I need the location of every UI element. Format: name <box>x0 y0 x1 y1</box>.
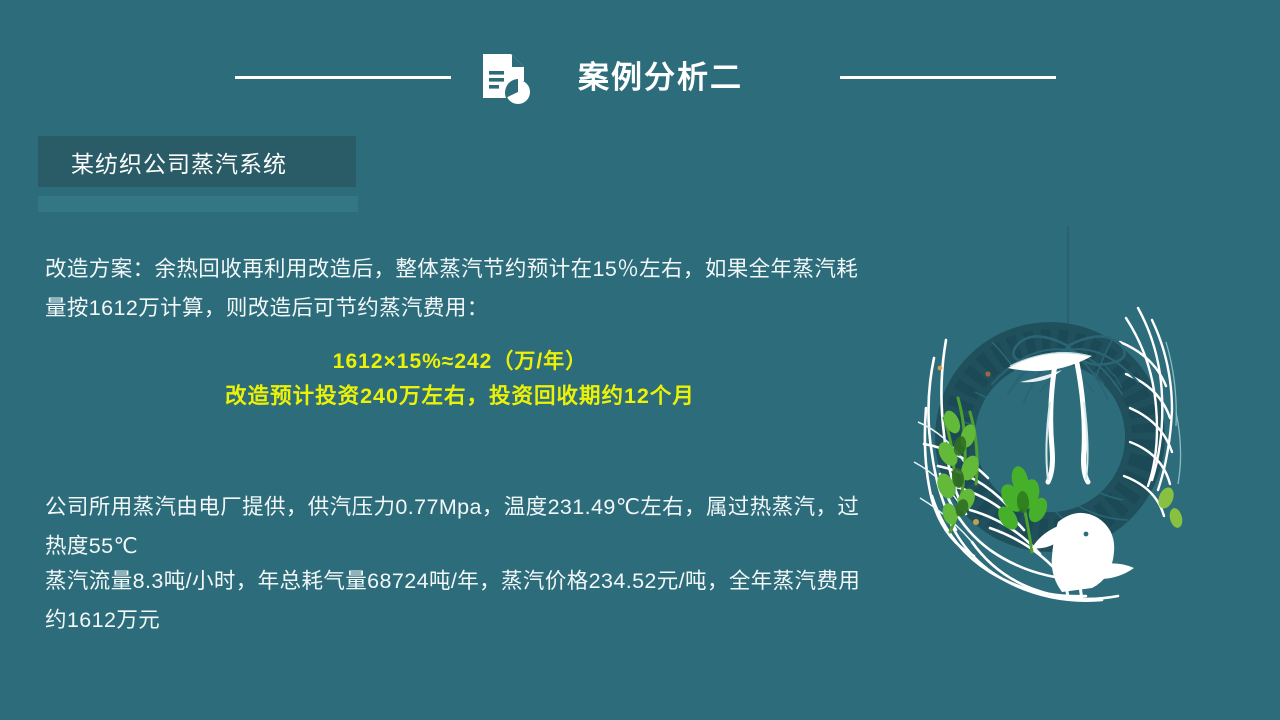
header-rule-right <box>840 76 1056 79</box>
page-title: 案例分析二 <box>578 56 743 100</box>
paragraph-steam-specs: 公司所用蒸汽由电厂提供，供汽压力0.77Mpa，温度231.49℃左右，属过热蒸… <box>45 488 875 566</box>
wreath-illustration <box>880 222 1220 642</box>
document-chart-icon <box>478 52 536 106</box>
section-chip-label: 某纺织公司蒸汽系统 <box>71 145 287 179</box>
highlight-line-calculation: 1612×15%≈242（万/年） <box>45 345 875 378</box>
header-rule-left <box>235 76 451 79</box>
highlight-line-payback: 改造预计投资240万左右，投资回收期约12个月 <box>45 378 875 415</box>
highlight-block: 1612×15%≈242（万/年） 改造预计投资240万左右，投资回收期约12个… <box>45 345 875 415</box>
section-chip: 某纺织公司蒸汽系统 <box>38 136 356 187</box>
paragraph-steam-cost: 蒸汽流量8.3吨/小时，年总耗气量68724吨/年，蒸汽价格234.52元/吨，… <box>45 562 875 640</box>
slide-canvas: 案例分析二 某纺织公司蒸汽系统 改造方案：余热回收再利用改造后，整体蒸汽节约预计… <box>0 0 1280 720</box>
paragraph-intro: 改造方案：余热回收再利用改造后，整体蒸汽节约预计在15％左右，如果全年蒸汽耗量按… <box>45 250 875 328</box>
section-chip-underbar <box>38 196 358 212</box>
slide-header: 案例分析二 <box>0 44 1280 110</box>
